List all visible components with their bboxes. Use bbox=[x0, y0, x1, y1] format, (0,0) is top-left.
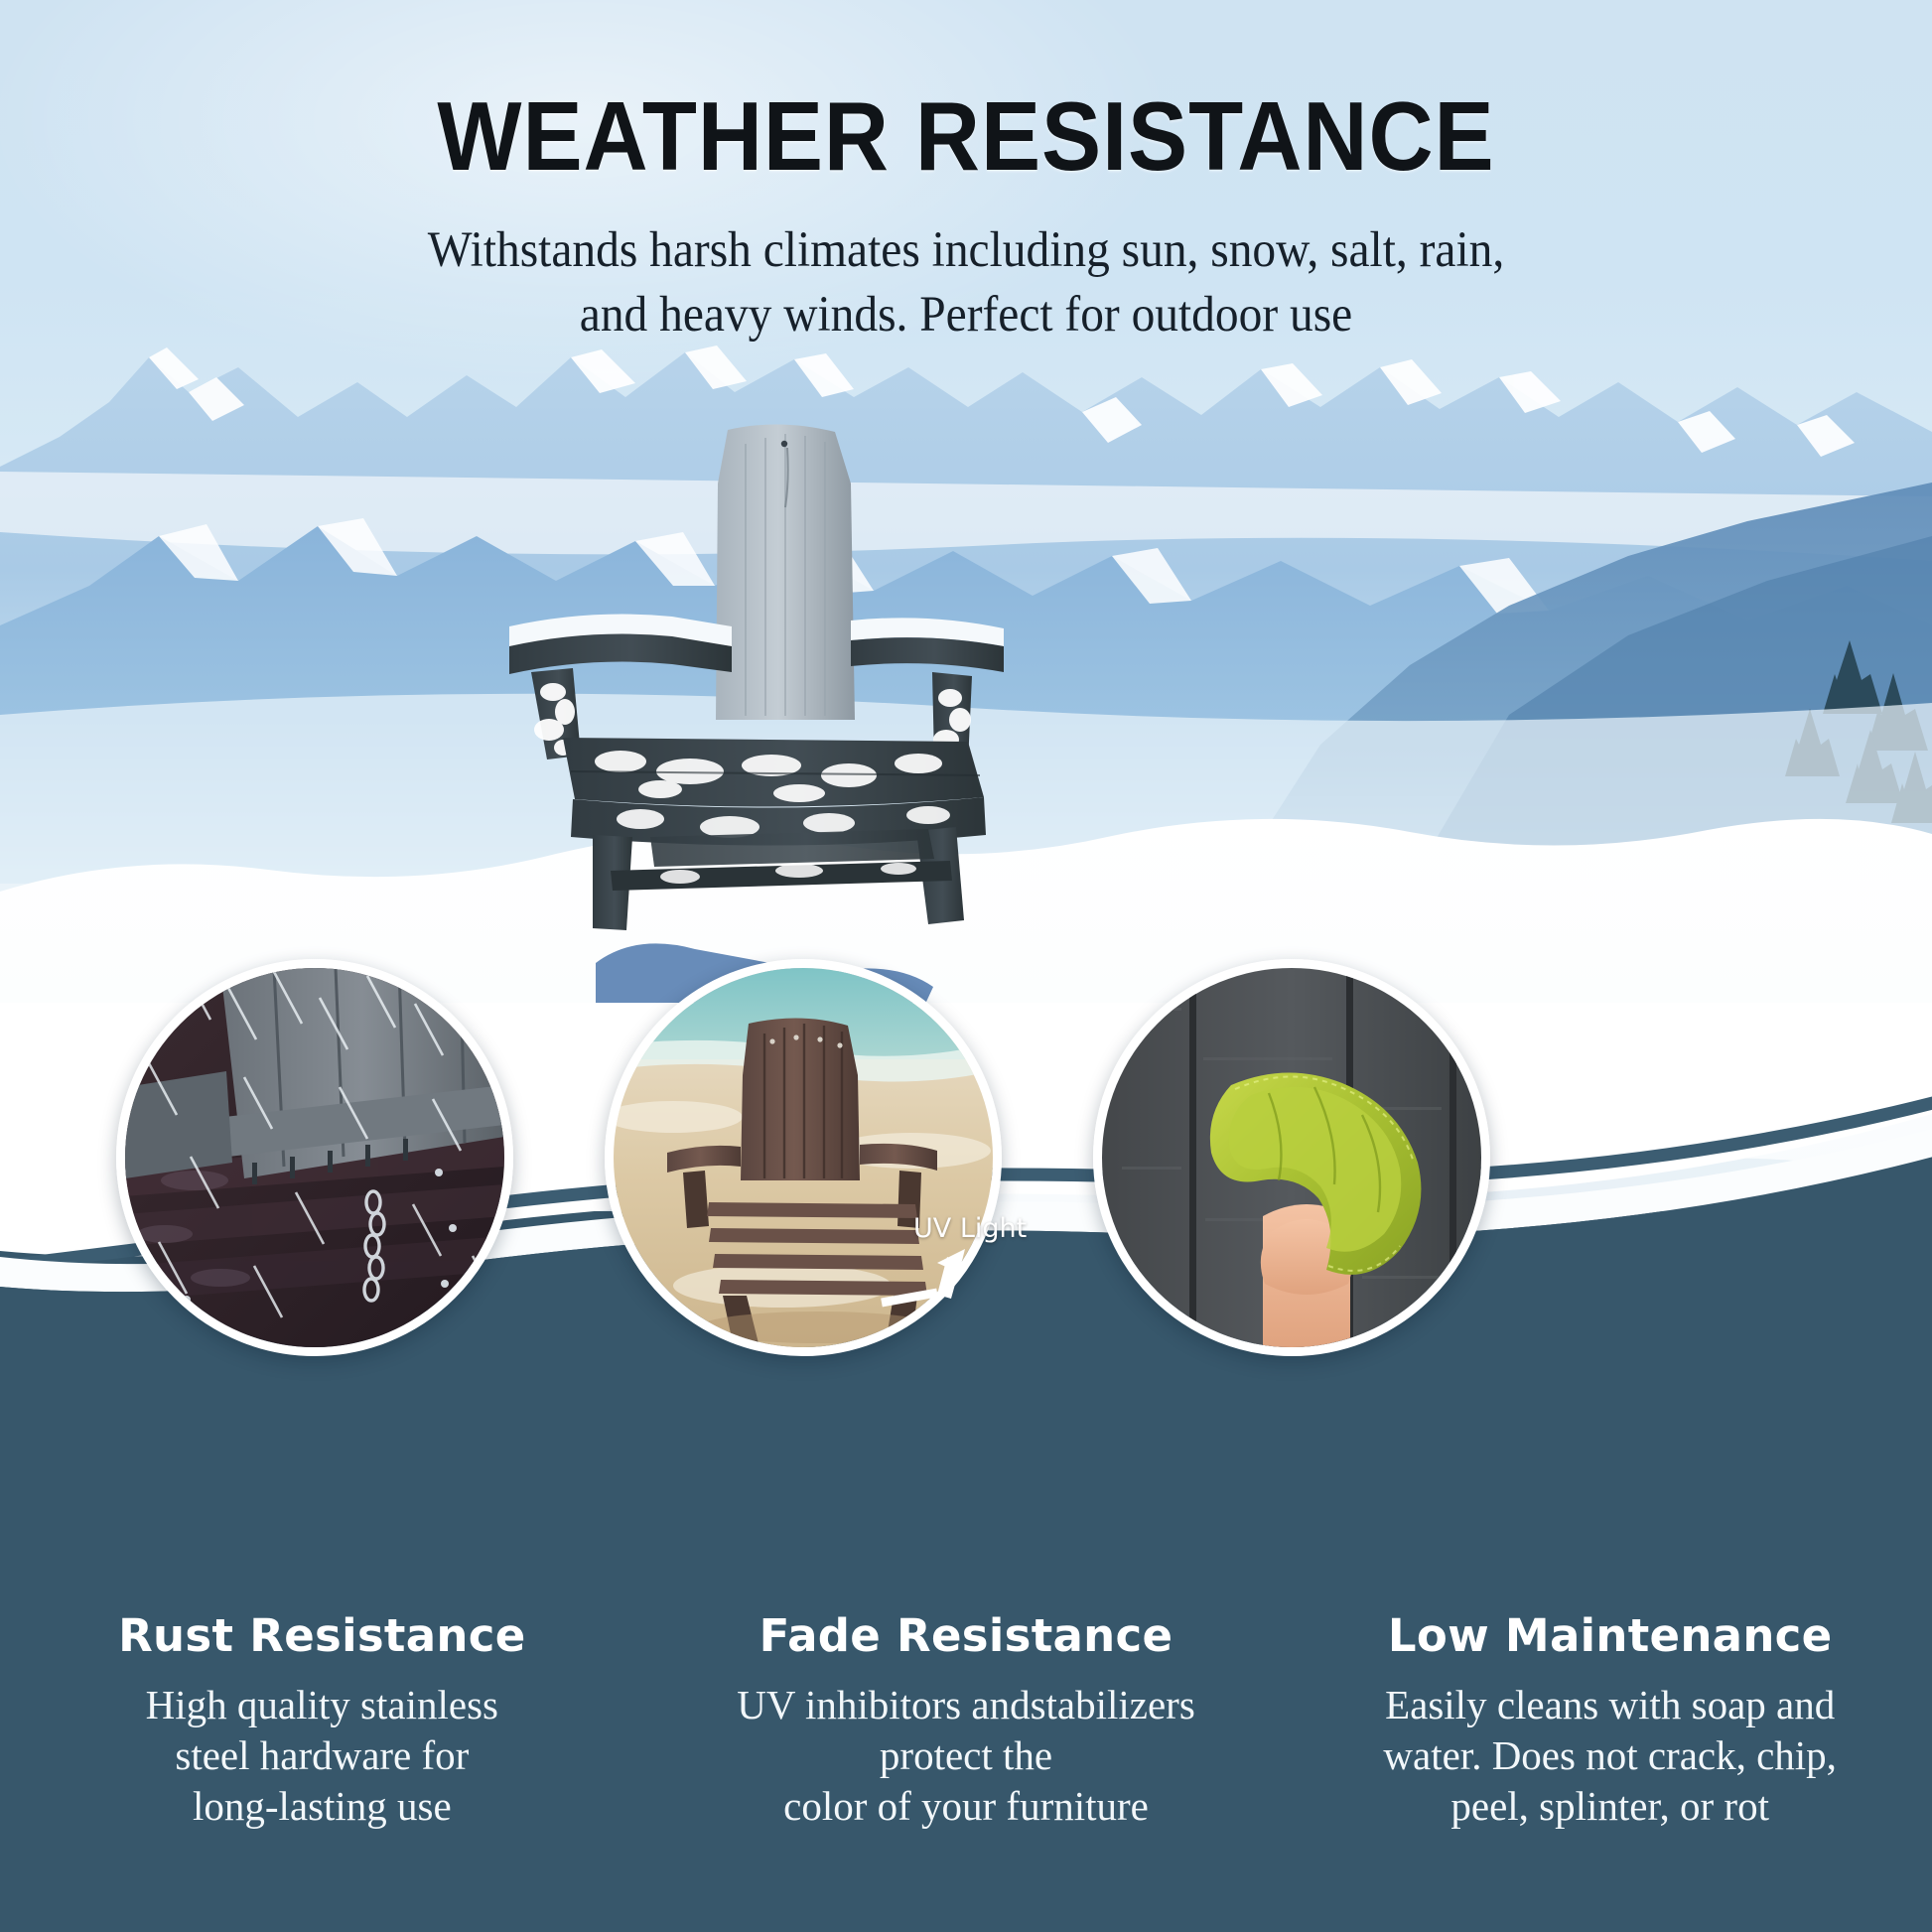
hero-adirondack-chair bbox=[501, 422, 1057, 978]
feature-body-low-maintenance: Easily cleans with soap and water. Does … bbox=[1313, 1680, 1906, 1831]
page-subtitle: Withstands harsh climates including sun,… bbox=[389, 218, 1544, 348]
feature-body-line: protect the bbox=[670, 1730, 1263, 1781]
feature-body-line: color of your furniture bbox=[670, 1781, 1263, 1832]
infographic-canvas: WEATHER RESISTANCE Withstands harsh clim… bbox=[0, 0, 1932, 1932]
feature-body-line: UV inhibitors andstabilizers bbox=[670, 1680, 1263, 1730]
feature-body-line: steel hardware for bbox=[26, 1730, 619, 1781]
uv-light-label: UV Light bbox=[913, 1213, 1027, 1244]
subtitle-line-1: Withstands harsh climates including sun,… bbox=[389, 218, 1544, 283]
feature-image-low-maintenance[interactable] bbox=[1093, 959, 1490, 1356]
feature-body-line: long-lasting use bbox=[26, 1781, 619, 1832]
feature-fade-resistance: Fade Resistance UV inhibitors andstabili… bbox=[644, 1613, 1289, 1831]
subtitle-line-2: and heavy winds. Perfect for outdoor use bbox=[389, 283, 1544, 347]
feature-title-low-maintenance: Low Maintenance bbox=[1313, 1613, 1906, 1658]
feature-image-rust-resistance[interactable] bbox=[116, 959, 513, 1356]
feature-body-line: Easily cleans with soap and bbox=[1313, 1680, 1906, 1730]
page-title: WEATHER RESISTANCE bbox=[77, 87, 1855, 185]
feature-title-fade: Fade Resistance bbox=[670, 1613, 1263, 1658]
feature-rust-resistance: Rust Resistance High quality stainless s… bbox=[0, 1613, 644, 1831]
feature-text-row: Rust Resistance High quality stainless s… bbox=[0, 1613, 1932, 1831]
feature-title-rust: Rust Resistance bbox=[26, 1613, 619, 1658]
header-block: WEATHER RESISTANCE Withstands harsh clim… bbox=[0, 0, 1932, 348]
feature-body-fade: UV inhibitors andstabilizers protect the… bbox=[670, 1680, 1263, 1831]
feature-body-rust: High quality stainless steel hardware fo… bbox=[26, 1680, 619, 1831]
feature-body-line: High quality stainless bbox=[26, 1680, 619, 1730]
feature-body-line: peel, splinter, or rot bbox=[1313, 1781, 1906, 1832]
uv-light-arrow-icon bbox=[878, 1243, 997, 1316]
feature-body-line: water. Does not crack, chip, bbox=[1313, 1730, 1906, 1781]
feature-low-maintenance: Low Maintenance Easily cleans with soap … bbox=[1288, 1613, 1932, 1831]
